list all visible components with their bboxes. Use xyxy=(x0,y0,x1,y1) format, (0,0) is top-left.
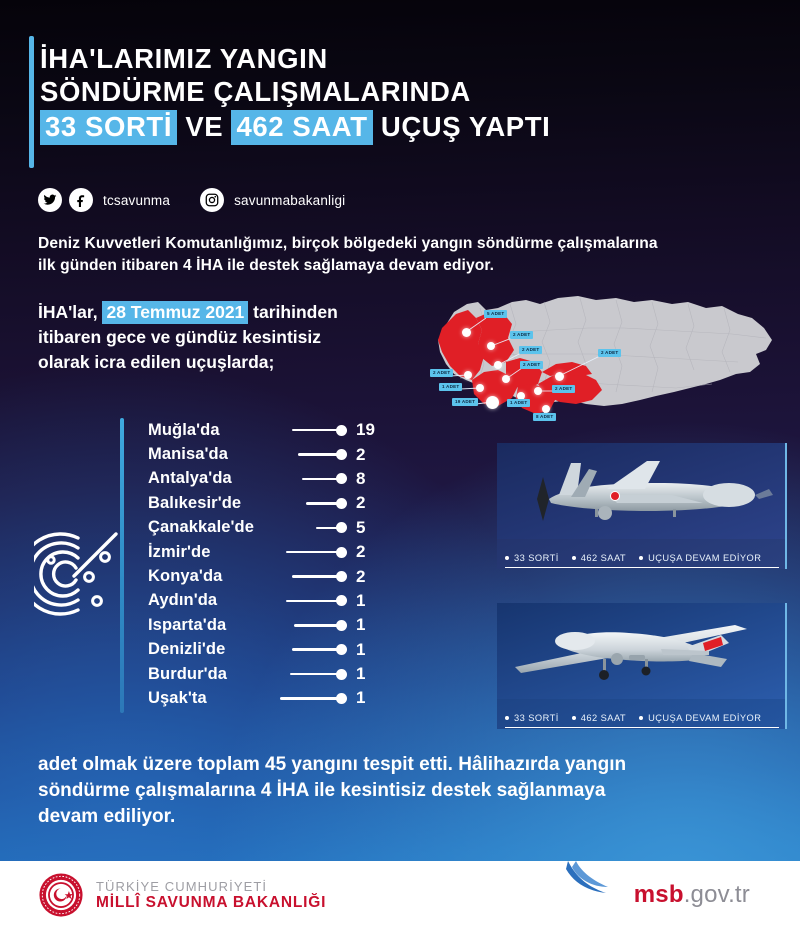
caption-text: 462 SAAT xyxy=(581,553,626,563)
map-label-chip: 2 ADET xyxy=(598,349,621,357)
caption-rule xyxy=(505,567,779,569)
lead-date-highlight: 28 Temmuz 2021 xyxy=(102,301,248,324)
city-name: Balıkesir'de xyxy=(148,494,241,513)
city-value: 2 xyxy=(356,445,390,465)
map-label-chip: 1 ADET xyxy=(507,399,530,407)
city-name: Konya'da xyxy=(148,567,222,586)
map-marker-dot xyxy=(464,371,472,379)
map-marker-dot xyxy=(502,375,510,383)
facebook-icon[interactable] xyxy=(69,188,93,212)
lead-line-1: İHA'lar, 28 Temmuz 2021 tarihinden xyxy=(38,300,458,325)
title-tail: UÇUŞ YAPTI xyxy=(381,111,551,142)
header-accent-bar xyxy=(29,36,34,168)
turkish-republic-emblem xyxy=(38,872,84,918)
drone-card-tb2: 33 SORTİ 462 SAAT UÇUŞA DEVAM EDİYOR xyxy=(497,603,787,729)
map-marker-dot xyxy=(462,328,471,337)
footer-url-bold: msb xyxy=(634,881,684,908)
map-label-chip: 19 ADET xyxy=(452,398,478,406)
city-value: 1 xyxy=(356,664,390,684)
anka-uav-image xyxy=(497,443,787,539)
city-name: İzmir'de xyxy=(148,543,211,562)
turkey-map: 5 ADET 2 ADET 2 ADET 2 ADET 2 ADET 2 ADE… xyxy=(420,288,792,428)
list-item: Denizli'de 1 xyxy=(120,638,390,662)
connector-dot xyxy=(336,620,347,631)
map-label-chip: 1 ADET xyxy=(439,383,462,391)
caption-item: UÇUŞA DEVAM EDİYOR xyxy=(639,713,761,723)
title-line-2: SÖNDÜRME ÇALIŞMALARINDA xyxy=(40,75,740,108)
caption-text: UÇUŞA DEVAM EDİYOR xyxy=(648,713,761,723)
map-marker-dot xyxy=(542,405,550,413)
list-item: Isparta'da 1 xyxy=(120,613,390,637)
map-label-chip: 2 ADET xyxy=(430,369,453,377)
map-marker-dot xyxy=(487,342,495,350)
outro-paragraph: adet olmak üzere toplam 45 yangını tespi… xyxy=(38,752,768,830)
outro-line-1: adet olmak üzere toplam 45 yangını tespi… xyxy=(38,752,768,778)
drone-card-caption: 33 SORTİ 462 SAAT UÇUŞA DEVAM EDİYOR xyxy=(505,713,779,723)
map-label-chip: 2 ADET xyxy=(510,331,533,339)
list-item: İzmir'de 2 xyxy=(120,540,390,564)
city-value: 2 xyxy=(356,493,390,513)
bullet-icon xyxy=(505,716,509,720)
connector-dot xyxy=(336,547,347,558)
connector-line xyxy=(292,648,342,651)
caption-text: UÇUŞA DEVAM EDİYOR xyxy=(648,553,761,563)
list-item: Aydın'da 1 xyxy=(120,589,390,613)
page-title: İHA'LARIMIZ YANGIN SÖNDÜRME ÇALIŞMALARIN… xyxy=(40,42,740,143)
footer-logo: TÜRKİYE CUMHURİYETİ MİLLÎ SAVUNMA BAKANL… xyxy=(38,872,326,918)
bullet-icon xyxy=(639,556,643,560)
list-item: Çanakkale'de 5 xyxy=(120,516,390,540)
turkey-map-svg xyxy=(420,288,792,428)
city-value: 1 xyxy=(356,688,390,708)
title-line-1: İHA'LARIMIZ YANGIN xyxy=(40,42,740,75)
list-item: Antalya'da 8 xyxy=(120,467,390,491)
city-value: 2 xyxy=(356,542,390,562)
intro-line-1: Deniz Kuvvetleri Komutanlığımız, birçok … xyxy=(38,233,758,255)
city-value: 1 xyxy=(356,591,390,611)
connector-dot xyxy=(336,449,347,460)
list-item: Konya'da 2 xyxy=(120,564,390,588)
map-marker-dot xyxy=(494,361,502,369)
city-name: Burdur'da xyxy=(148,665,227,684)
title-conjunction: VE xyxy=(185,111,223,142)
city-name: Denizli'de xyxy=(148,640,225,659)
outro-line-2: söndürme çalışmalarına 4 İHA ile kesinti… xyxy=(38,778,768,804)
twitter-icon[interactable] xyxy=(38,188,62,212)
social-handle-tcsavunma: tcsavunma xyxy=(103,193,170,208)
title-highlight-sorti: 33 SORTİ xyxy=(40,110,177,145)
map-marker-dot xyxy=(476,384,484,392)
map-marker-dot xyxy=(534,387,542,395)
footer-url-rest: .gov.tr xyxy=(684,881,750,908)
list-item: Manisa'da 2 xyxy=(120,442,390,466)
map-label-chip: 2 ADET xyxy=(519,346,542,354)
drone-card-caption: 33 SORTİ 462 SAAT UÇUŞA DEVAM EDİYOR xyxy=(505,553,779,563)
map-label-chip: 2 ADET xyxy=(552,385,575,393)
city-value: 1 xyxy=(356,615,390,635)
footer-url[interactable]: msb.gov.tr xyxy=(634,881,750,909)
caption-text: 33 SORTİ xyxy=(514,553,559,563)
map-marker-dot xyxy=(486,396,499,409)
connector-dot xyxy=(336,644,347,655)
caption-rule xyxy=(505,727,779,729)
caption-item: 462 SAAT xyxy=(572,713,626,723)
lead-paragraph: İHA'lar, 28 Temmuz 2021 tarihinden itiba… xyxy=(38,300,458,375)
list-item: Uşak'ta 1 xyxy=(120,686,390,710)
bullet-icon xyxy=(572,556,576,560)
caption-item: UÇUŞA DEVAM EDİYOR xyxy=(639,553,761,563)
drone-card-anka: 33 SORTİ 462 SAAT UÇUŞA DEVAM EDİYOR xyxy=(497,443,787,569)
connector-dot xyxy=(336,522,347,533)
footer-org-line2: MİLLÎ SAVUNMA BAKANLIĞI xyxy=(96,894,326,912)
connector-line xyxy=(286,600,342,603)
lead-line-3: olarak icra edilen uçuşlarda; xyxy=(38,350,458,375)
footer-org-line1: TÜRKİYE CUMHURİYETİ xyxy=(96,879,326,894)
city-name: Antalya'da xyxy=(148,469,232,488)
bullet-icon xyxy=(639,716,643,720)
outro-line-3: devam ediliyor. xyxy=(38,804,768,830)
city-value: 1 xyxy=(356,640,390,660)
intro-line-2: ilk günden itibaren 4 İHA ile destek sağ… xyxy=(38,255,758,277)
city-value: 8 xyxy=(356,469,390,489)
map-label-chip: 2 ADET xyxy=(520,361,543,369)
map-label-chip: 8 ADET xyxy=(533,413,556,421)
connector-dot xyxy=(336,571,347,582)
connector-dot xyxy=(336,669,347,680)
caption-item: 33 SORTİ xyxy=(505,553,559,563)
instagram-icon[interactable] xyxy=(200,188,224,212)
connector-dot xyxy=(336,498,347,509)
header: İHA'LARIMIZ YANGIN SÖNDÜRME ÇALIŞMALARIN… xyxy=(0,0,800,175)
connector-dot xyxy=(336,473,347,484)
caption-item: 462 SAAT xyxy=(572,553,626,563)
city-value: 5 xyxy=(356,518,390,538)
city-name: Muğla'da xyxy=(148,421,220,440)
bullet-icon xyxy=(505,556,509,560)
connector-line xyxy=(292,429,342,432)
caption-text: 33 SORTİ xyxy=(514,713,559,723)
city-name: Uşak'ta xyxy=(148,689,207,708)
connector-line xyxy=(294,624,342,627)
infographic-page: İHA'LARIMIZ YANGIN SÖNDÜRME ÇALIŞMALARIN… xyxy=(0,0,800,929)
city-list: Muğla'da 19 Manisa'da 2 Antalya'da 8 Bal… xyxy=(120,418,390,713)
footer-swoosh-decoration xyxy=(566,861,622,929)
connector-dot xyxy=(336,693,347,704)
city-name: Çanakkale'de xyxy=(148,518,254,537)
caption-text: 462 SAAT xyxy=(581,713,626,723)
connector-dot xyxy=(336,425,347,436)
city-name: Manisa'da xyxy=(148,445,228,464)
caption-item: 33 SORTİ xyxy=(505,713,559,723)
connector-line xyxy=(292,575,342,578)
title-highlight-saat: 462 SAAT xyxy=(231,110,372,145)
connector-line xyxy=(280,697,342,700)
footer-org: TÜRKİYE CUMHURİYETİ MİLLÎ SAVUNMA BAKANL… xyxy=(96,879,326,912)
social-links: tcsavunma savunmabakanligi xyxy=(38,186,375,214)
connector-line xyxy=(286,551,342,554)
lead-line-2: itibaren gece ve gündüz kesintisiz xyxy=(38,325,458,350)
map-label-chip: 5 ADET xyxy=(484,310,507,318)
map-marker-dot xyxy=(555,372,564,381)
city-name: Aydın'da xyxy=(148,591,217,610)
city-name: Isparta'da xyxy=(148,616,226,635)
lead-suffix: tarihinden xyxy=(253,302,338,322)
bullet-icon xyxy=(572,716,576,720)
list-item: Burdur'da 1 xyxy=(120,662,390,686)
footer: TÜRKİYE CUMHURİYETİ MİLLÎ SAVUNMA BAKANL… xyxy=(0,861,800,929)
city-value: 19 xyxy=(356,420,390,440)
list-item: Balıkesir'de 2 xyxy=(120,491,390,515)
title-line-3: 33 SORTİ VE 462 SAAT UÇUŞ YAPTI xyxy=(40,110,740,143)
intro-paragraph: Deniz Kuvvetleri Komutanlığımız, birçok … xyxy=(38,233,758,277)
social-handle-savunmabakanligi: savunmabakanligi xyxy=(234,193,345,208)
city-value: 2 xyxy=(356,567,390,587)
connector-line xyxy=(290,673,342,676)
list-item: Muğla'da 19 xyxy=(120,418,390,442)
lead-prefix: İHA'lar, xyxy=(38,302,98,322)
bayraktar-tb2-uav-image xyxy=(497,603,787,699)
connector-dot xyxy=(336,595,347,606)
